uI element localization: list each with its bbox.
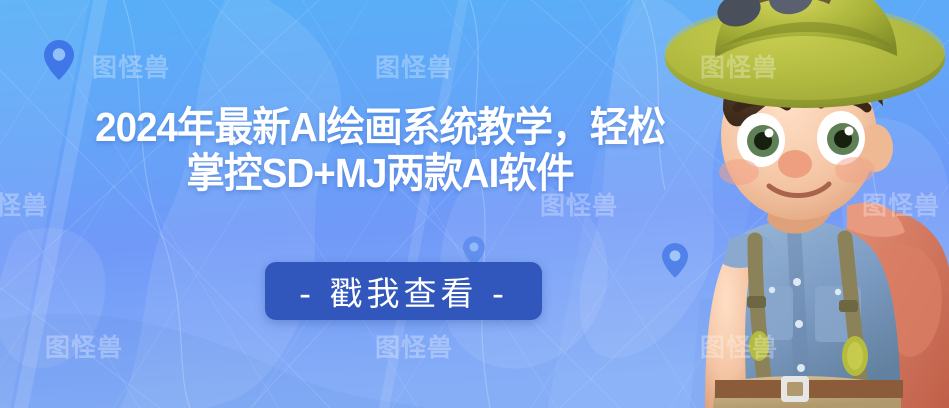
headline-line-2: 掌控SD+MJ两款AI软件 (23, 150, 737, 196)
cartoon-explorer-boy (619, 0, 949, 408)
headline-line-1: 2024年最新AI绘画系统教学，轻松 (23, 104, 737, 150)
map-pin-icon (44, 40, 74, 80)
promo-banner: 图怪兽 图怪兽 图怪兽 图怪兽 图怪兽 图怪兽 图怪兽 图怪兽 图怪兽 2024… (0, 0, 949, 408)
cta-button-label: - 戳我查看 - (299, 267, 508, 315)
cta-button[interactable]: - 戳我查看 - (265, 262, 542, 320)
headline: 2024年最新AI绘画系统教学，轻松 掌控SD+MJ两款AI软件 (0, 104, 760, 197)
